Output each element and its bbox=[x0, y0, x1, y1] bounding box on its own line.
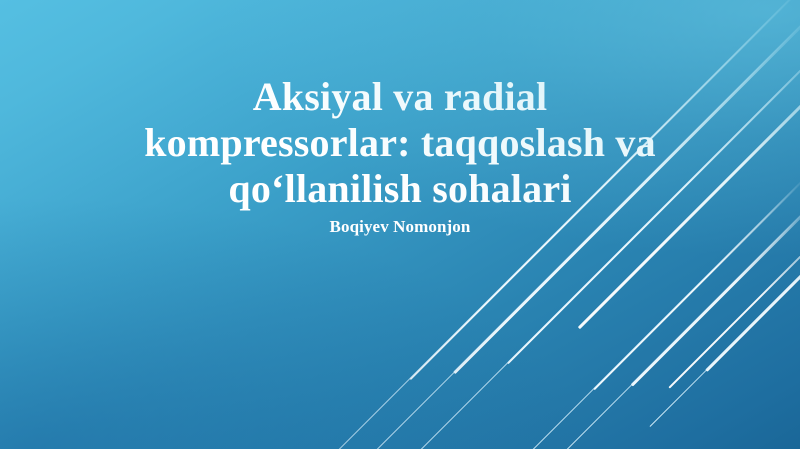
page-title: Aksiyal va radialkompressorlar: taqqosla… bbox=[60, 74, 740, 212]
page-title-line: qo‘llanilish sohalari bbox=[228, 166, 571, 211]
page-title-line: Aksiyal va radial bbox=[253, 74, 548, 119]
diagonal-ray bbox=[650, 214, 800, 427]
title-slide: Aksiyal va radialkompressorlar: taqqosla… bbox=[0, 0, 800, 449]
slide-subtitle-author: Boqiyev Nomonjon bbox=[0, 216, 800, 238]
page-title-line: kompressorlar: taqqoslash va bbox=[144, 120, 656, 165]
diagonal-ray bbox=[668, 220, 800, 388]
